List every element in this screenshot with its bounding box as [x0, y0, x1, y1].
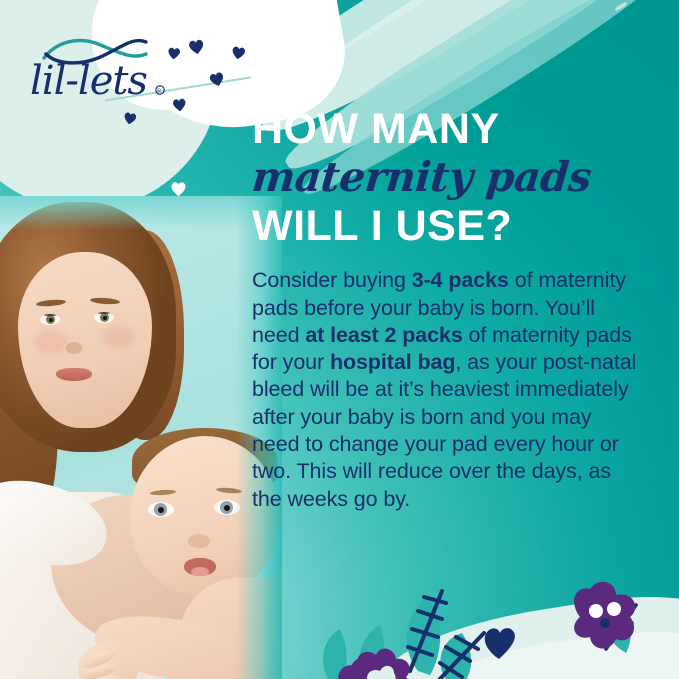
- baby-pupil: [224, 505, 230, 511]
- poster-canvas: lil-lets R: [0, 0, 679, 679]
- mother-pupil: [103, 316, 107, 320]
- mother-lips: [56, 368, 92, 381]
- navy-heart-icon: [485, 628, 515, 659]
- navy-heart-icon: [172, 98, 187, 112]
- mother-pupil: [49, 318, 53, 322]
- mother-eye: [40, 314, 60, 325]
- navy-heart-icon: [123, 112, 137, 125]
- mother-eyelid: [94, 312, 114, 314]
- mother-cheek: [104, 326, 134, 348]
- svg-text:lil-lets: lil-lets: [30, 58, 147, 104]
- white-heart-icon: [170, 181, 187, 197]
- baby-tongue: [191, 567, 209, 576]
- headline-line-1: HOW MANY: [252, 108, 652, 152]
- baby-pupil: [158, 507, 164, 513]
- navy-heart-icon: [167, 47, 181, 60]
- body-paragraph: Consider buying 3-4 packs of maternity p…: [252, 267, 644, 513]
- mother-and-baby-photo: [0, 196, 282, 679]
- navy-heart-icon: [209, 72, 225, 87]
- baby-mouth: [184, 558, 216, 576]
- body-emphasis: at least 2 packs: [305, 323, 462, 347]
- baby-eye: [148, 502, 174, 517]
- headline-line-3: WILL I USE?: [252, 205, 652, 249]
- baby-nose: [188, 534, 210, 548]
- svg-text:R: R: [157, 89, 161, 95]
- lillets-logo: lil-lets R: [26, 24, 176, 104]
- mother-eye: [94, 312, 114, 323]
- purple-flower-right: [574, 582, 635, 649]
- mother-eyelid: [40, 314, 60, 316]
- mother-nose: [66, 342, 82, 354]
- headline-line-2-script: maternity pads: [250, 154, 654, 202]
- text-content: HOW MANY maternity pads WILL I USE? Cons…: [252, 108, 652, 513]
- bottom-floral-decoration: [300, 575, 679, 679]
- mother-cheek: [34, 330, 68, 354]
- navy-heart-icon: [188, 39, 205, 55]
- body-emphasis: hospital bag: [330, 350, 455, 374]
- navy-heart-icon: [231, 46, 246, 60]
- body-emphasis: 3-4 packs: [412, 268, 509, 292]
